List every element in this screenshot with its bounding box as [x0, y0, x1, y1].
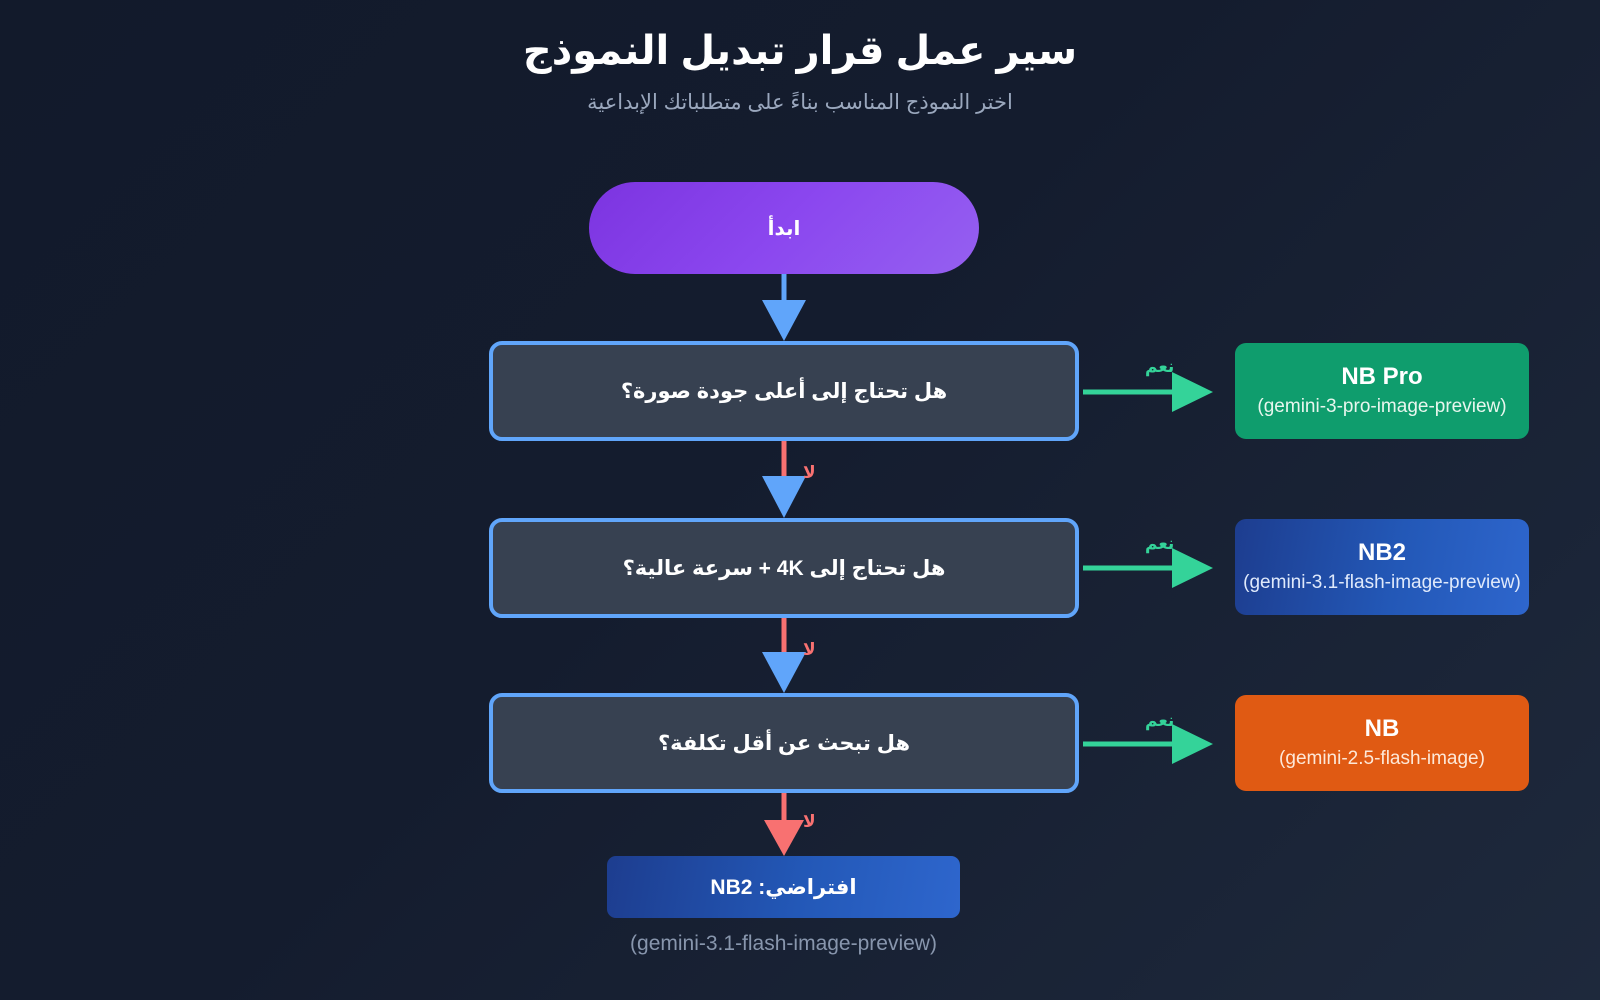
edge-label-speed-yes: نعم [1145, 535, 1174, 552]
node-result-nb2-model: (gemini-3.1-flash-image-preview) [1243, 573, 1521, 594]
flow-edges [0, 0, 1600, 1000]
edge-label-cost-no: لا [803, 813, 816, 830]
node-decision-speed-4k-label: هل تحتاج إلى 4K + سرعة عالية؟ [623, 556, 946, 581]
edge-label-cost-yes: نعم [1145, 712, 1174, 729]
node-result-nb2-name: NB2 [1358, 540, 1406, 566]
node-result-nb-pro-model: (gemini-3-pro-image-preview) [1257, 397, 1506, 418]
node-result-nb2[interactable]: NB2 (gemini-3.1-flash-image-preview) [1235, 519, 1529, 615]
edge-cost-yes [1083, 724, 1213, 764]
node-result-nb[interactable]: NB (gemini-2.5-flash-image) [1235, 695, 1529, 791]
edge-label-quality-no: لا [803, 464, 816, 481]
node-decision-quality[interactable]: هل تحتاج إلى أعلى جودة صورة؟ [489, 341, 1079, 441]
node-default-nb2-label: افتراضي: NB2 [710, 875, 856, 900]
node-start[interactable]: ابدأ [589, 182, 979, 274]
node-decision-speed-4k[interactable]: هل تحتاج إلى 4K + سرعة عالية؟ [489, 518, 1079, 618]
node-decision-quality-label: هل تحتاج إلى أعلى جودة صورة؟ [621, 379, 947, 404]
node-default-nb2[interactable]: افتراضي: NB2 [607, 856, 960, 918]
node-result-nb-name: NB [1365, 716, 1400, 742]
node-result-nb-pro[interactable]: NB Pro (gemini-3-pro-image-preview) [1235, 343, 1529, 439]
edge-label-quality-yes: نعم [1145, 358, 1174, 375]
edge-quality-yes [1083, 372, 1213, 412]
flowchart-canvas: ابدأ هل تحتاج إلى أعلى جودة صورة؟ هل تحت… [0, 0, 1600, 1000]
node-start-label: ابدأ [768, 216, 801, 241]
edge-quality-no [762, 441, 806, 518]
edge-label-speed-no: لا [803, 641, 816, 658]
node-decision-cost-label: هل تبحث عن أقل تكلفة؟ [658, 731, 910, 756]
edge-start-to-quality [762, 274, 806, 341]
edge-cost-no [764, 793, 804, 856]
node-result-nb-pro-name: NB Pro [1341, 364, 1422, 390]
edge-speed-yes [1083, 548, 1213, 588]
node-default-nb2-caption: (gemini-3.1-flash-image-preview) [607, 932, 960, 956]
node-decision-cost[interactable]: هل تبحث عن أقل تكلفة؟ [489, 693, 1079, 793]
edge-speed-no [762, 618, 806, 693]
node-result-nb-model: (gemini-2.5-flash-image) [1279, 749, 1485, 770]
